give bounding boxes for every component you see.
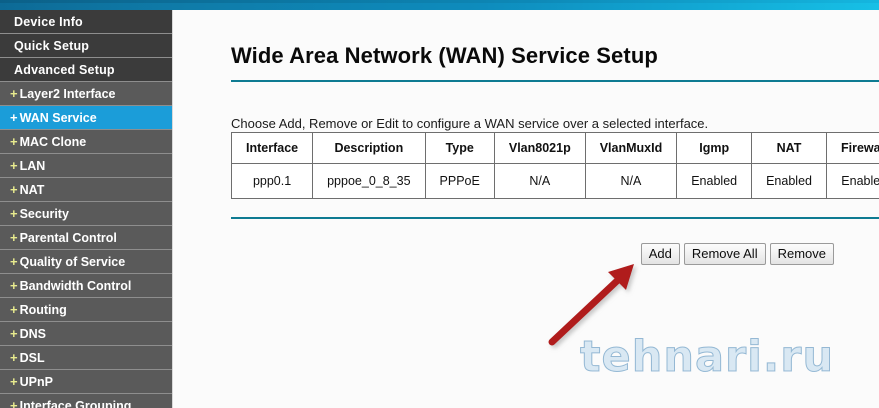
sidebar-item-parental-control[interactable]: +Parental Control — [0, 226, 172, 250]
table-cell: N/A — [494, 164, 585, 199]
column-header: Type — [425, 133, 494, 164]
sidebar-item-label: NAT — [20, 178, 45, 202]
column-header: Description — [313, 133, 425, 164]
wan-table-header-row: InterfaceDescriptionTypeVlan8021pVlanMux… — [232, 133, 879, 164]
table-cell: pppoe_0_8_35 — [313, 164, 425, 199]
table-row: ppp0.1pppoe_0_8_35PPPoEN/AN/AEnabledEnab… — [232, 164, 879, 199]
sidebar-item-dsl[interactable]: +DSL — [0, 346, 172, 370]
sidebar-item-label: WAN Service — [20, 106, 97, 130]
sidebar-item-dns[interactable]: +DNS — [0, 322, 172, 346]
sidebar-item-label: LAN — [20, 154, 46, 178]
sidebar-item-label: Interface Grouping — [20, 394, 132, 408]
sidebar-item-label: Quality of Service — [20, 250, 126, 274]
column-header: Firewall — [826, 133, 879, 164]
sidebar-item-label: Device Info — [14, 10, 83, 34]
top-accent-bar-shade — [0, 0, 879, 3]
main-content: Wide Area Network (WAN) Service Setup Ch… — [174, 10, 879, 408]
remove-button[interactable]: Remove — [770, 243, 834, 265]
sidebar-item-device-info[interactable]: Device Info — [0, 10, 172, 34]
sidebar-item-quick-setup[interactable]: Quick Setup — [0, 34, 172, 58]
page-title: Wide Area Network (WAN) Service Setup — [231, 43, 658, 69]
divider-bottom — [231, 217, 879, 219]
table-cell: ppp0.1 — [232, 164, 313, 199]
column-header: Interface — [232, 133, 313, 164]
sidebar-item-interface-grouping[interactable]: +Interface Grouping — [0, 394, 172, 408]
action-button-row: AddRemove AllRemove — [231, 243, 879, 267]
column-header: VlanMuxId — [585, 133, 677, 164]
remove-all-button[interactable]: Remove All — [684, 243, 766, 265]
wan-service-table: InterfaceDescriptionTypeVlan8021pVlanMux… — [231, 132, 879, 199]
table-cell: N/A — [585, 164, 677, 199]
plus-icon: + — [10, 226, 18, 250]
table-cell: Enabled — [752, 164, 827, 199]
sidebar-item-label: Bandwidth Control — [20, 274, 132, 298]
sidebar-item-label: Security — [20, 202, 69, 226]
sidebar-item-wan-service[interactable]: +WAN Service — [0, 106, 172, 130]
table-cell: Enabled — [677, 164, 752, 199]
sidebar-item-quality-of-service[interactable]: +Quality of Service — [0, 250, 172, 274]
sidebar-item-bandwidth-control[interactable]: +Bandwidth Control — [0, 274, 172, 298]
plus-icon: + — [10, 82, 18, 106]
plus-icon: + — [10, 298, 18, 322]
sidebar-item-nat[interactable]: +NAT — [0, 178, 172, 202]
column-header: NAT — [752, 133, 827, 164]
column-header: Vlan8021p — [494, 133, 585, 164]
table-cell: Enabled — [826, 164, 879, 199]
sidebar-item-label: Quick Setup — [14, 34, 89, 58]
sidebar-nav: Device InfoQuick SetupAdvanced Setup+Lay… — [0, 10, 173, 408]
router-admin-page: Device InfoQuick SetupAdvanced Setup+Lay… — [0, 0, 879, 408]
sidebar-item-label: DSL — [20, 346, 45, 370]
column-header: Igmp — [677, 133, 752, 164]
plus-icon: + — [10, 202, 18, 226]
sidebar-item-lan[interactable]: +LAN — [0, 154, 172, 178]
sidebar-item-label: DNS — [20, 322, 46, 346]
sidebar-item-label: Layer2 Interface — [20, 82, 116, 106]
sidebar-item-label: Advanced Setup — [14, 58, 115, 82]
sidebar-item-security[interactable]: +Security — [0, 202, 172, 226]
plus-icon: + — [10, 178, 18, 202]
sidebar-item-layer2-interface[interactable]: +Layer2 Interface — [0, 82, 172, 106]
plus-icon: + — [10, 130, 18, 154]
sidebar-item-upnp[interactable]: +UPnP — [0, 370, 172, 394]
plus-icon: + — [10, 154, 18, 178]
plus-icon: + — [10, 106, 18, 130]
plus-icon: + — [10, 370, 18, 394]
plus-icon: + — [10, 346, 18, 370]
sidebar-item-label: UPnP — [20, 370, 53, 394]
sidebar-item-mac-clone[interactable]: +MAC Clone — [0, 130, 172, 154]
sidebar-item-label: MAC Clone — [20, 130, 87, 154]
plus-icon: + — [10, 322, 18, 346]
wan-table-body: ppp0.1pppoe_0_8_35PPPoEN/AN/AEnabledEnab… — [232, 164, 879, 199]
sidebar-item-advanced-setup[interactable]: Advanced Setup — [0, 58, 172, 82]
wan-table-head: InterfaceDescriptionTypeVlan8021pVlanMux… — [232, 133, 879, 164]
sidebar-item-label: Routing — [20, 298, 67, 322]
intro-text: Choose Add, Remove or Edit to configure … — [231, 116, 708, 131]
plus-icon: + — [10, 250, 18, 274]
table-cell: PPPoE — [425, 164, 494, 199]
plus-icon: + — [10, 394, 18, 408]
sidebar-item-routing[interactable]: +Routing — [0, 298, 172, 322]
top-accent-bar — [0, 0, 879, 10]
plus-icon: + — [10, 274, 18, 298]
add-button[interactable]: Add — [641, 243, 680, 265]
sidebar-item-label: Parental Control — [20, 226, 117, 250]
divider-top — [231, 80, 879, 82]
